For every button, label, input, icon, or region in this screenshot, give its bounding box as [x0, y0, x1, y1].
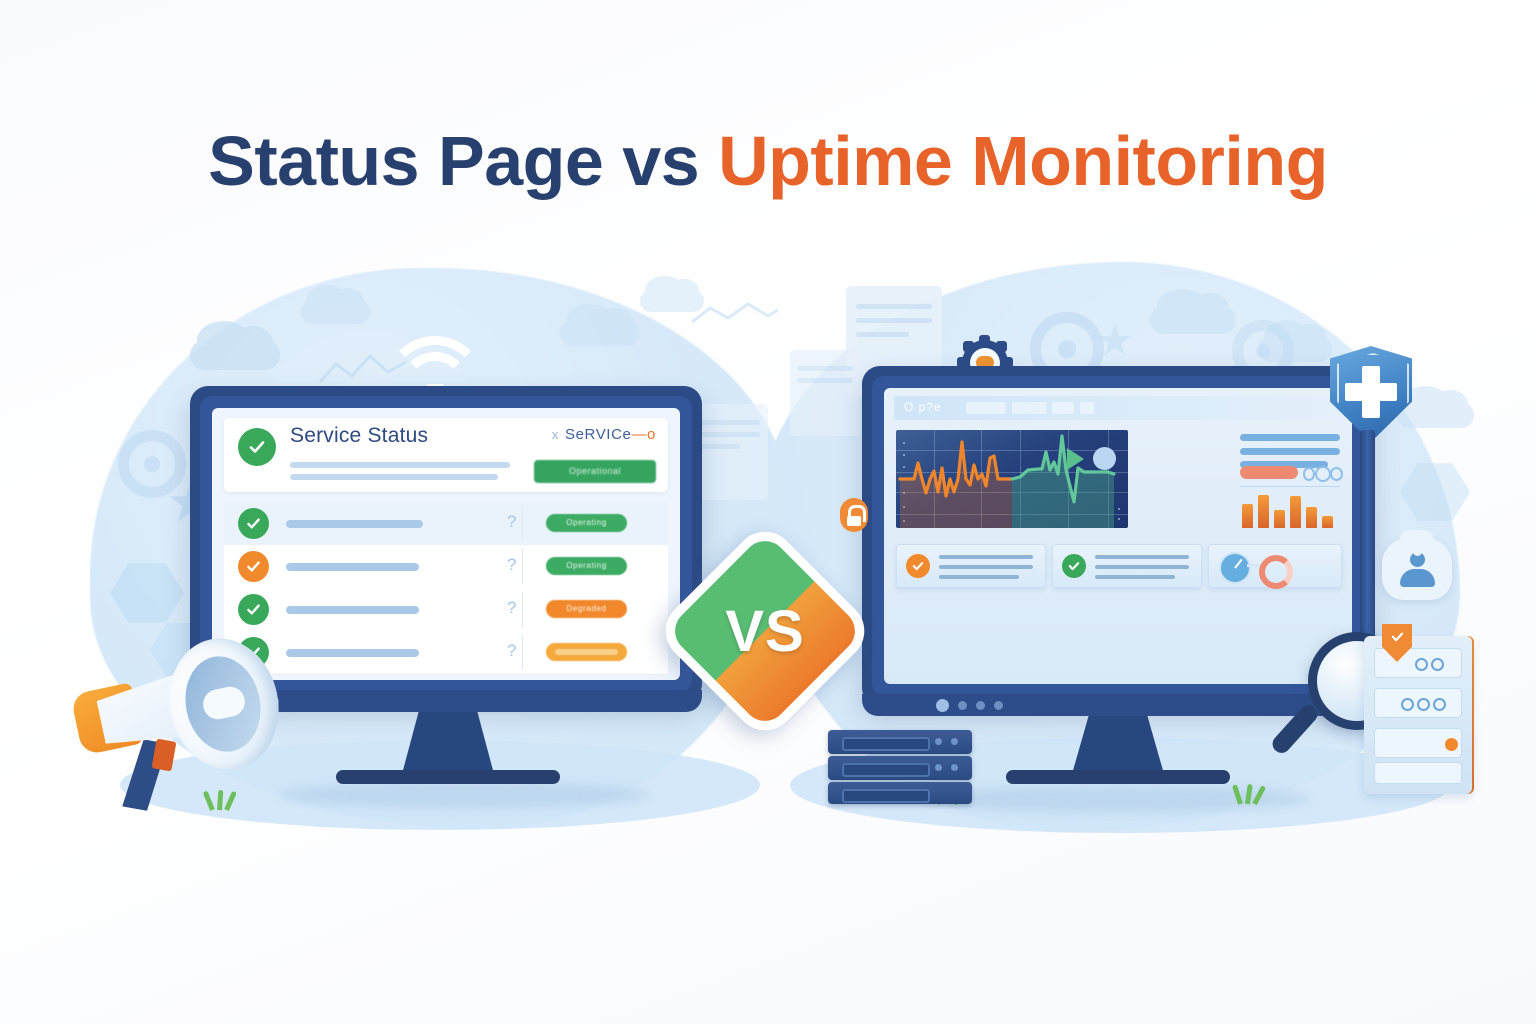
row-glyph: ? [507, 512, 516, 532]
status-ok-icon [238, 428, 276, 466]
server-slot[interactable] [1374, 648, 1462, 678]
server-rack-panel [1364, 636, 1472, 794]
play-triangle-icon[interactable] [1067, 448, 1084, 470]
card-placeholder-line [1095, 565, 1189, 569]
server-slot [842, 789, 930, 803]
megaphone-trigger [152, 738, 177, 771]
gauge-ring-icon [1259, 555, 1293, 589]
decorative-linechart-icon [690, 298, 780, 328]
megaphone-icon [62, 630, 342, 830]
monitor-led [936, 699, 949, 712]
sidebar-bar-chart-bar [1274, 510, 1285, 528]
page-title-accent: Uptime Monitoring [718, 122, 1328, 200]
card-placeholder-line [939, 555, 1033, 559]
server-slot [842, 737, 930, 751]
server-led [935, 738, 942, 745]
decorative-cloud-icon [1150, 306, 1236, 334]
sidebar-bar-chart-bar [1306, 507, 1317, 528]
chart-marker-dot [1093, 447, 1116, 470]
row-status-pill[interactable]: Degraded [546, 600, 627, 618]
server-led [951, 764, 958, 771]
server-slot [842, 763, 930, 777]
server-rack-icon [828, 730, 972, 754]
row-glyph: ? [507, 641, 516, 661]
row-placeholder-bar [286, 520, 423, 528]
table-row[interactable]: ? Degraded [224, 588, 668, 632]
status-page-header: Service Status xSeRVICe—o Operational [224, 418, 668, 492]
sidebar-circle [1303, 467, 1315, 481]
shield-cross-horizontal [1345, 383, 1397, 401]
row-divider [522, 506, 523, 541]
server-slot[interactable] [1374, 688, 1462, 718]
header-status-pill[interactable]: Operational [534, 460, 656, 483]
screen-bottom-strip [884, 668, 1352, 684]
topbar-placeholder [1052, 402, 1074, 414]
decorative-cloud-icon [560, 320, 640, 346]
server-led [1417, 698, 1430, 711]
row-divider [522, 592, 523, 627]
card-placeholder-line [1095, 575, 1175, 579]
status-warning-icon [238, 551, 269, 582]
status-warning-icon [906, 554, 930, 578]
chart-series-svg [896, 430, 1128, 528]
server-led-active [1445, 738, 1458, 751]
sidebar-placeholder-bar [1240, 448, 1340, 455]
dashboard-card[interactable] [1052, 544, 1202, 588]
row-status-pill[interactable]: Operating [546, 514, 627, 532]
server-led [1431, 658, 1444, 671]
row-divider [522, 635, 523, 670]
row-placeholder-bar [286, 606, 419, 614]
decorative-cloud-icon [190, 340, 280, 370]
row-status-pill[interactable]: Operating [546, 557, 627, 575]
sidebar-bar-chart-bar [1258, 495, 1269, 528]
server-led [1415, 658, 1428, 671]
sidebar-circle [1315, 466, 1331, 482]
topbar-placeholder [966, 402, 1006, 414]
logo-x-mark: x [552, 427, 559, 442]
sidebar-alert-pill[interactable] [1240, 466, 1298, 479]
monitor-base [1006, 770, 1230, 784]
page-title-primary: Status Page vs [208, 122, 699, 200]
row-glyph: ? [507, 555, 516, 575]
card-placeholder-line [939, 575, 1019, 579]
user-badge-icon [1382, 538, 1452, 600]
table-row[interactable]: ? Operating [224, 545, 668, 589]
lock-badge-icon [840, 498, 868, 532]
dashboard-card[interactable] [896, 544, 1046, 588]
sidebar-bar-chart-bar [1242, 504, 1253, 528]
dashboard-sidebar [1240, 430, 1340, 528]
card-placeholder-line [1095, 555, 1189, 559]
check-glyph [1390, 630, 1405, 645]
card-placeholder-line [939, 565, 1033, 569]
shield-pole [1360, 430, 1375, 640]
topbar-placeholder [1080, 402, 1094, 414]
row-placeholder-bar [286, 563, 419, 571]
server-led [1401, 698, 1414, 711]
topbar-placeholder [1012, 402, 1046, 414]
server-rack-icon [828, 782, 972, 804]
sidebar-circle [1330, 467, 1343, 481]
sidebar-divider [1240, 486, 1340, 487]
gauge-icon [1219, 552, 1251, 584]
logo-text: SeRVICe [565, 426, 631, 443]
user-body [1400, 569, 1435, 587]
status-page-title: Service Status [290, 424, 428, 448]
table-row[interactable]: ? Operating [224, 502, 668, 546]
row-glyph: ? [507, 598, 516, 618]
server-led [935, 764, 942, 771]
status-page-logo: xSeRVICe—o [552, 426, 656, 443]
uptime-dashboard-screen: O p?e [884, 388, 1352, 684]
server-rack-icon [828, 756, 972, 780]
uptime-chart [896, 430, 1128, 528]
server-slot[interactable] [1374, 728, 1462, 758]
sidebar-bar-chart-bar [1322, 516, 1333, 528]
monitor-led [976, 701, 985, 710]
decorative-cloud-icon [300, 300, 370, 324]
status-ok-icon [238, 508, 269, 539]
status-ok-icon [1062, 554, 1086, 578]
server-slot[interactable] [1374, 762, 1462, 784]
header-placeholder-bar [290, 474, 498, 480]
dashboard-topbar-text: O p?e [904, 400, 942, 414]
monitor-led [994, 701, 1003, 710]
server-led [1433, 698, 1446, 711]
decorative-gear-icon [118, 430, 186, 498]
user-gear [1413, 547, 1422, 556]
dashboard-topbar: O p?e [894, 396, 1342, 420]
row-status-pill[interactable] [546, 643, 627, 661]
decorative-document-card [790, 350, 860, 436]
dashboard-card[interactable] [1208, 544, 1342, 588]
row-divider [522, 549, 523, 584]
monitor-base [336, 770, 560, 784]
sidebar-bar-chart-bar [1290, 496, 1301, 528]
illustration-canvas: Status Page vs Uptime Monitoring [0, 0, 1536, 1024]
status-ok-icon [238, 594, 269, 625]
server-led [951, 738, 958, 745]
page-title: Status Page vs Uptime Monitoring [0, 126, 1536, 196]
sidebar-placeholder-bar [1240, 434, 1340, 441]
monitor-led [958, 701, 967, 710]
logo-accent: —o [631, 426, 656, 443]
header-placeholder-bar [290, 462, 510, 468]
